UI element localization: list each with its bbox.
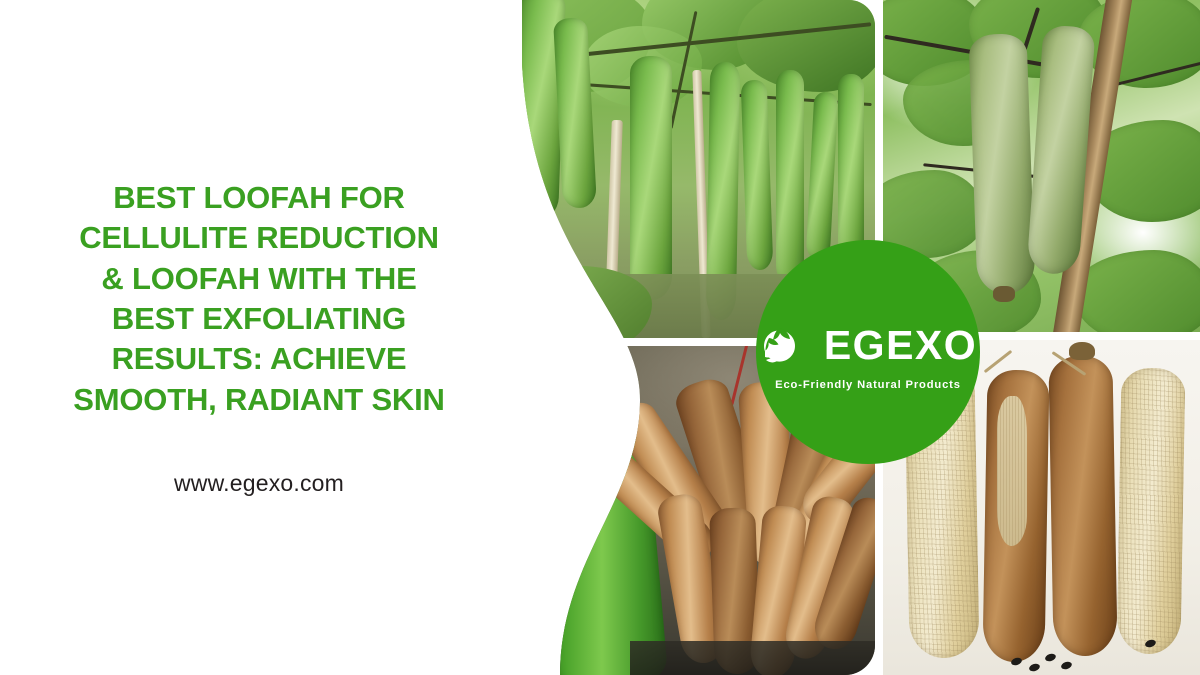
text-panel: BEST LOOFAH FOR CELLULITE REDUCTION & LO… bbox=[0, 0, 512, 675]
headline-line-2: CELLULITE REDUCTION bbox=[73, 218, 444, 258]
luffa-seed bbox=[1060, 660, 1073, 670]
headline-line-4: BEST EXFOLIATING bbox=[73, 299, 444, 339]
headline-line-3: & LOOFAH WITH THE bbox=[73, 259, 444, 299]
luffa-seed bbox=[1044, 652, 1057, 662]
loofah-shell-right bbox=[1048, 355, 1117, 656]
website-url[interactable]: www.egexo.com bbox=[174, 470, 344, 497]
page-title: BEST LOOFAH FOR CELLULITE REDUCTION & LO… bbox=[73, 178, 444, 420]
logo-lockup: EGEXO bbox=[759, 318, 977, 374]
headline-line-1: BEST LOOFAH FOR bbox=[73, 178, 444, 218]
logo-tagline: Eco-Friendly Natural Products bbox=[775, 379, 961, 391]
luffa-seed bbox=[1028, 662, 1041, 672]
egexo-logo-badge[interactable]: EGEXO Eco-Friendly Natural Products bbox=[756, 240, 980, 464]
loofah-sponge-fiber-right bbox=[1117, 367, 1186, 654]
loofah-promo-banner: BEST LOOFAH FOR CELLULITE REDUCTION & LO… bbox=[0, 0, 1200, 675]
logo-wordmark: EGEXO bbox=[824, 325, 977, 366]
leaf-seedling-icon bbox=[759, 318, 815, 374]
headline-line-5: RESULTS: ACHIEVE bbox=[73, 339, 444, 379]
headline-line-6: SMOOTH, RADIANT SKIN bbox=[73, 380, 444, 420]
